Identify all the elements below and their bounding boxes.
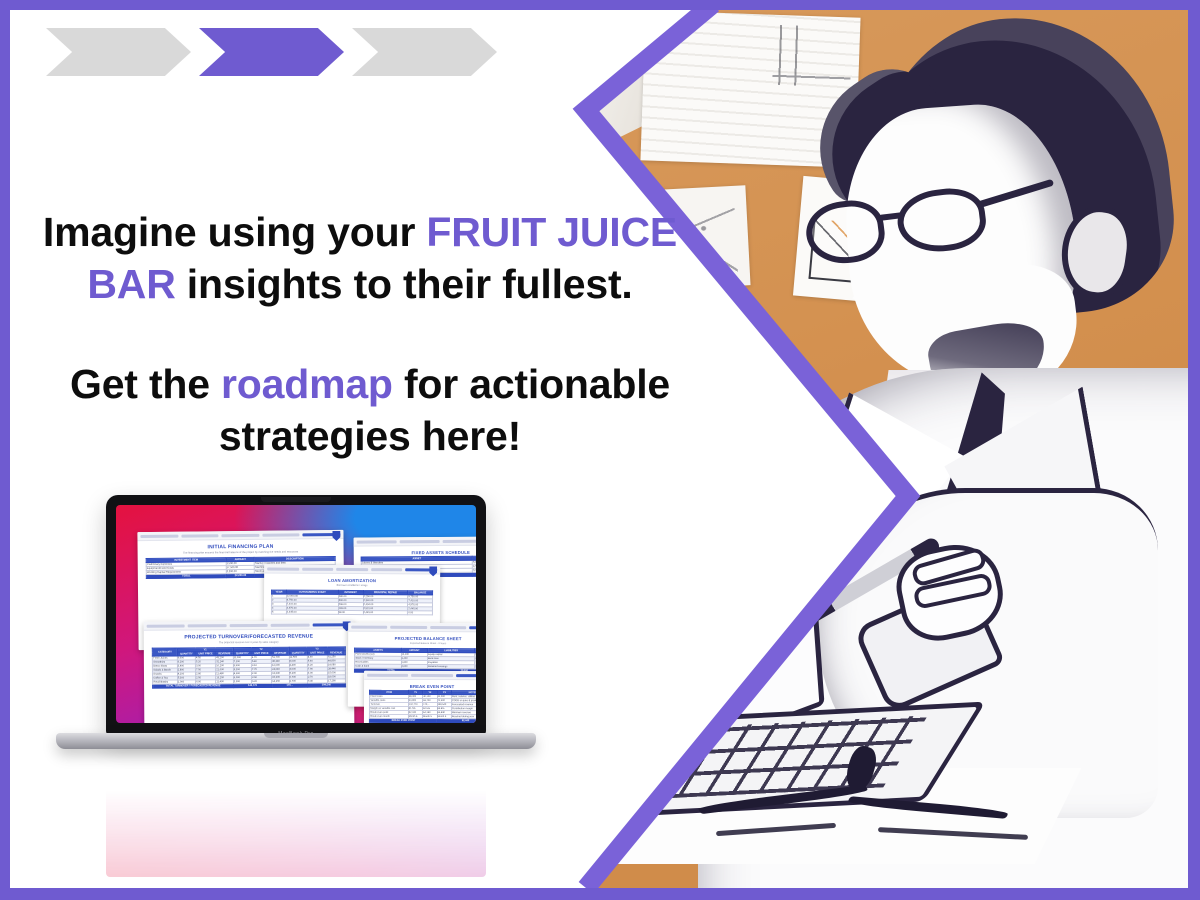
doc-table: YEAROUTSTANDING STARTINTERESTPRINCIPAL R… — [271, 590, 433, 616]
webcam-notch — [261, 497, 331, 502]
table-total-row: TOTAL TURNOVER / FORECASTED REVENUE 142,… — [153, 683, 345, 688]
doc-ribbon — [364, 671, 476, 680]
table-total-row: BREAK EVEN POINT62,440 — [370, 718, 476, 722]
doc-title: BREAK EVEN POINT — [366, 684, 476, 689]
chevron-progress-indicator[interactable] — [46, 28, 497, 76]
doc-subtitle: The projected revenue over 3 years by sa… — [144, 640, 354, 644]
doc-table: ITEMY1Y2Y3NOTES Fixed costs38,40040,1004… — [369, 690, 476, 723]
chevron-step-1[interactable] — [46, 28, 191, 76]
doc-title: FIXED ASSETS SCHEDULE — [356, 549, 476, 555]
doc-subtitle: Expected Balance Sheet - 3 Years — [348, 642, 476, 646]
laptop-base — [56, 733, 536, 749]
headline-line1-pre: Imagine using your — [43, 209, 426, 255]
doc-title: PROJECTED BALANCE SHEET — [350, 636, 476, 642]
laptop-lid: INITIAL FINANCING PLAN The financing pla… — [106, 495, 486, 735]
headline-secondary: Get the roadmap for actionable strategie… — [10, 358, 730, 463]
laptop-reflection — [56, 763, 536, 883]
doc-projected-turnover[interactable]: PROJECTED TURNOVER/FORECASTED REVENUE Th… — [144, 620, 355, 723]
illustrated-laptop — [548, 558, 978, 858]
doc-title: LOAN AMORTIZATION — [266, 578, 438, 584]
table-row: 52,445.0098.002,445.000.00 — [271, 610, 432, 615]
headline-line2-highlight: roadmap — [221, 361, 393, 407]
chevron-step-2[interactable] — [199, 28, 344, 76]
slide-frame: Imagine using your FRUIT JUICE BAR insig… — [0, 0, 1200, 900]
doc-ribbon — [137, 530, 343, 541]
headline-line2-pre: Get the — [70, 361, 221, 407]
shield-icon — [332, 531, 340, 541]
chevron-step-3[interactable] — [352, 28, 497, 76]
doc-subtitle: Borrower conditions / usage — [264, 584, 440, 588]
shield-icon — [429, 566, 437, 576]
laptop-screen: INITIAL FINANCING PLAN The financing pla… — [116, 505, 476, 723]
doc-ribbon — [354, 536, 476, 546]
slide-canvas: Imagine using your FRUIT JUICE BAR insig… — [10, 10, 1188, 888]
doc-ribbon — [264, 565, 440, 575]
headline-primary: Imagine using your FRUIT JUICE BAR insig… — [10, 206, 710, 311]
doc-ribbon — [144, 620, 354, 630]
laptop-trackpad-notch — [264, 733, 328, 738]
doc-break-even-point[interactable]: BREAK EVEN POINT ITEMY1Y2Y3NOTES Fixed c… — [364, 671, 476, 723]
headline-line1-post: insights to their fullest. — [176, 261, 633, 307]
laptop-mockup: INITIAL FINANCING PLAN The financing pla… — [56, 495, 536, 795]
doc-table: ASSETSAMOUNTLIABILITIESAMOUNT Fixed asse… — [354, 648, 476, 674]
doc-table: CATEGORY Y1 Y2 Y3 QUANTITYUNIT PRICEREVE… — [152, 646, 345, 688]
doc-ribbon — [348, 623, 476, 633]
